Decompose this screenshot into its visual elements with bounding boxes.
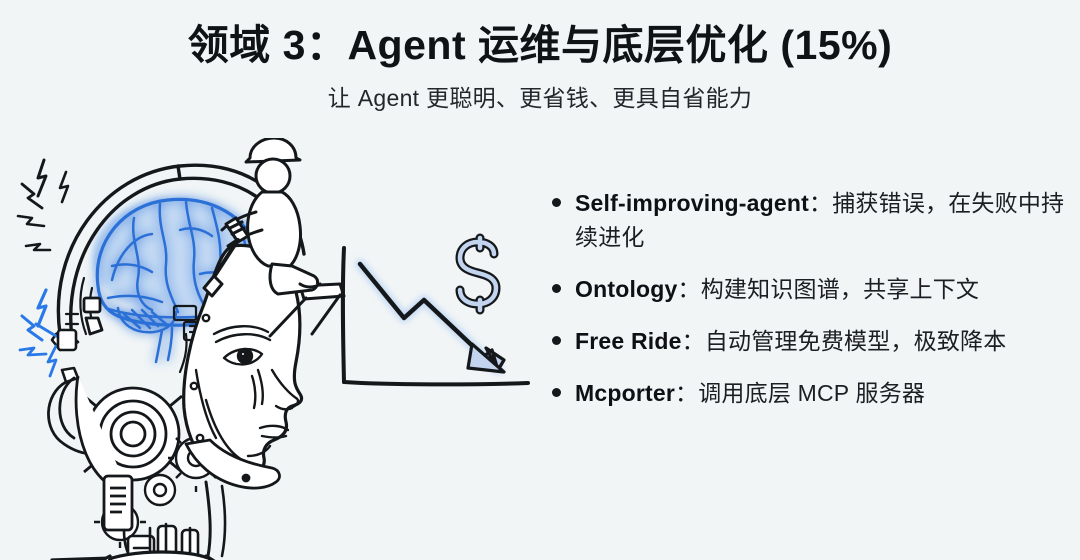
bullet-dot-icon (552, 388, 561, 397)
bullet-term: Ontology (575, 276, 678, 302)
declining-cost-chart (343, 238, 528, 384)
lightning-bolts-upper (18, 160, 68, 250)
page-title: 领域 3：Agent 运维与底层优化 (15%) (0, 22, 1080, 69)
slide-root: 领域 3：Agent 运维与底层优化 (15%) 让 Agent 更聪明、更省钱… (0, 0, 1080, 560)
bullet-separator: ： (682, 328, 705, 354)
bullet-text: Ontology：构建知识图谱，共享上下文 (575, 272, 979, 306)
dollar-sign-icon (460, 238, 496, 310)
bullet-description: 自动管理免费模型，极致降本 (705, 328, 1007, 354)
bullet-description: 调用底层 MCP 服务器 (698, 380, 925, 406)
chart-x-axis (344, 382, 528, 384)
bullet-term: Free Ride (575, 328, 682, 354)
bullet-description: 构建知识图谱，共享上下文 (701, 276, 979, 302)
bullet-separator: ： (675, 380, 698, 406)
slide-header: 领域 3：Agent 运维与底层优化 (15%) 让 Agent 更聪明、更省钱… (0, 0, 1080, 113)
illustration-robot-head-and-cost-chart (0, 138, 545, 560)
bullet-dot-icon (552, 284, 561, 293)
bullet-dot-icon (552, 198, 561, 207)
list-item: Ontology：构建知识图谱，共享上下文 (552, 272, 1068, 306)
bullet-text: Self-improving-agent：捕获错误，在失败中持续进化 (575, 186, 1068, 254)
bullet-dot-icon (552, 336, 561, 345)
list-item: Free Ride：自动管理免费模型，极致降本 (552, 324, 1068, 358)
page-subtitle: 让 Agent 更聪明、更省钱、更具自省能力 (0, 85, 1080, 113)
bullet-list: Self-improving-agent：捕获错误，在失败中持续进化 Ontol… (552, 186, 1068, 410)
robot-head-group (18, 138, 344, 560)
head-side-port (58, 330, 78, 382)
bullet-text: Mcporter：调用底层 MCP 服务器 (575, 376, 925, 410)
list-item: Mcporter：调用底层 MCP 服务器 (552, 376, 1068, 410)
bullet-separator: ： (809, 190, 832, 216)
shoulder-plates (40, 552, 266, 560)
chart-y-axis (343, 248, 344, 382)
bullet-separator: ： (678, 276, 701, 302)
bullet-text: Free Ride：自动管理免费模型，极致降本 (575, 324, 1006, 358)
list-item: Self-improving-agent：捕获错误，在失败中持续进化 (552, 186, 1068, 254)
bullet-term: Self-improving-agent (575, 190, 809, 216)
bullet-term: Mcporter (575, 380, 675, 406)
